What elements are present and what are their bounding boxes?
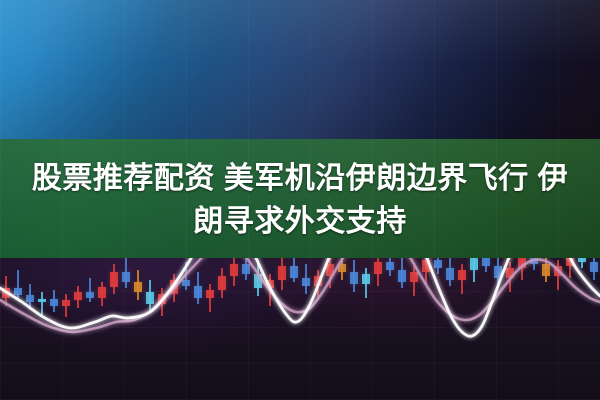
headline-band: 股票推荐配资 美军机沿伊朗边界飞行 伊朗寻求外交支持 bbox=[0, 139, 600, 258]
news-banner: 股票推荐配资 美军机沿伊朗边界飞行 伊朗寻求外交支持 bbox=[0, 0, 600, 400]
top-blue-gradient bbox=[0, 0, 600, 142]
headline-title: 股票推荐配资 美军机沿伊朗边界飞行 伊朗寻求外交支持 bbox=[20, 139, 580, 243]
top-gradient-sheen bbox=[0, 0, 600, 142]
